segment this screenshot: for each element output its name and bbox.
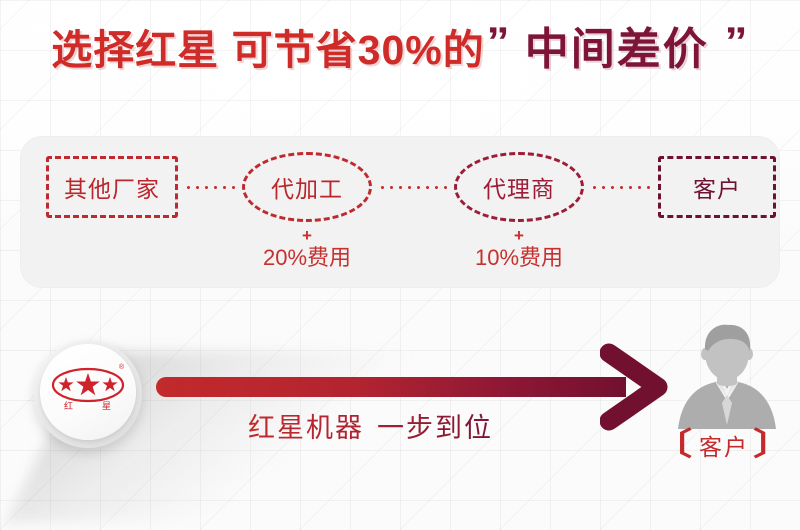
hongxing-logo-badge: ® 红 星 <box>34 340 142 448</box>
plus-sign-icon: + <box>434 226 604 245</box>
headline-primary-text: 选择红星 可节省30%的 <box>51 27 484 73</box>
three-stars-ellipse-icon: ® 红 星 <box>50 365 126 419</box>
flow-connector-dotted-3 <box>590 186 654 189</box>
bracket-left-icon: 〔 <box>652 433 695 458</box>
flow-arrow-head-icon <box>600 343 668 431</box>
arrow-caption: 红星机器一步到位 <box>248 406 493 445</box>
flow-connector-dotted-1 <box>184 186 238 189</box>
quote-open-icon: ” <box>486 22 509 62</box>
flow-node-label: 客户 <box>693 170 741 204</box>
fee-markup-agent-dealer: + 10%费用 <box>434 226 604 271</box>
logo-word-left: 红 <box>64 399 74 412</box>
flow-connector-dotted-2 <box>378 186 450 189</box>
arrow-caption-slogan: 一步到位 <box>377 413 493 443</box>
flow-arrow-shaft <box>156 377 626 397</box>
registered-trademark-icon: ® <box>119 364 124 371</box>
customer-endpoint-label: 〔 客户 〕 <box>648 428 800 462</box>
logo-word-right: 星 <box>102 399 112 412</box>
fee-amount-label: 10%费用 <box>434 246 604 271</box>
flow-node-label: 其他厂家 <box>64 170 160 204</box>
flow-node-other-manufacturer: 其他厂家 <box>46 156 178 218</box>
plus-sign-icon: + <box>222 226 392 245</box>
flow-node-agent-dealer: 代理商 <box>454 152 584 222</box>
arrow-caption-brand: 红星机器 <box>248 413 364 443</box>
poster-canvas: 选择红星 可节省30%的”中间差价” 其他厂家 代加工 代理商 客户 + 20%… <box>0 0 800 530</box>
flow-node-customer: 客户 <box>658 156 776 218</box>
bracket-right-icon: 〕 <box>753 433 796 458</box>
fee-amount-label: 20%费用 <box>222 246 392 271</box>
supply-chain-panel: 其他厂家 代加工 代理商 客户 + 20%费用 + 10%费用 <box>20 136 780 288</box>
fee-markup-oem-processing: + 20%费用 <box>222 226 392 271</box>
quote-close-icon: ” <box>724 22 747 62</box>
customer-label-text: 客户 <box>699 428 749 462</box>
businessman-avatar-icon <box>668 323 786 429</box>
flow-node-label: 代理商 <box>483 170 555 204</box>
flow-node-label: 代加工 <box>271 170 343 204</box>
logo-disc: ® 红 星 <box>40 344 136 440</box>
headline: 选择红星 可节省30%的”中间差价” <box>0 28 800 72</box>
headline-emphasis-text: 中间差价 <box>525 25 709 74</box>
flow-node-oem-processing: 代加工 <box>242 152 372 222</box>
logo-wordmark: 红 星 <box>50 399 126 412</box>
